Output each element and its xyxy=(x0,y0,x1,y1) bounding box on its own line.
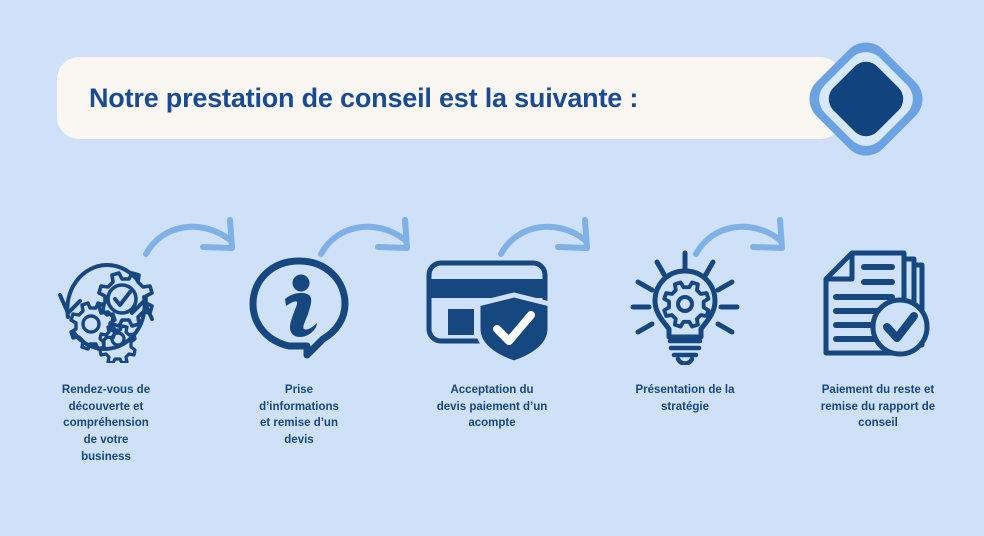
process-step-4-label: Présentation de la stratégie xyxy=(601,382,769,415)
infographic-canvas: Notre prestation de conseil est la suiva… xyxy=(0,0,984,536)
process-step-1: Rendez-vous de découverte et compréhensi… xyxy=(18,248,194,465)
credit-card-shield-check-icon xyxy=(422,248,562,366)
process-step-3: Acceptation du devis paiement d’un acomp… xyxy=(404,248,580,432)
page-title: Notre prestation de conseil est la suiva… xyxy=(89,83,638,114)
process-step-1-label: Rendez-vous de découverte et compréhensi… xyxy=(31,382,181,465)
documents-check-report-icon xyxy=(818,248,938,366)
process-step-5: Paiement du reste et remise du rapport d… xyxy=(790,248,966,432)
diamond-badge xyxy=(800,33,932,165)
process-step-2-label: Prise d’informations et remise d’un devi… xyxy=(224,382,374,449)
title-banner: Notre prestation de conseil est la suiva… xyxy=(57,57,842,139)
process-step-4: Présentation de la stratégie xyxy=(597,248,773,415)
process-step-3-label: Acceptation du devis paiement d’un acomp… xyxy=(408,382,576,432)
process-step-5-label: Paiement du reste et remise du rapport d… xyxy=(794,382,962,432)
process-steps: Rendez-vous de découverte et compréhensi… xyxy=(0,248,984,465)
process-step-2: Prise d’informations et remise d’un devi… xyxy=(211,248,387,449)
information-speech-bubble-icon xyxy=(245,248,353,366)
lightbulb-gear-idea-icon xyxy=(629,248,741,366)
gears-refresh-check-icon xyxy=(50,248,162,366)
